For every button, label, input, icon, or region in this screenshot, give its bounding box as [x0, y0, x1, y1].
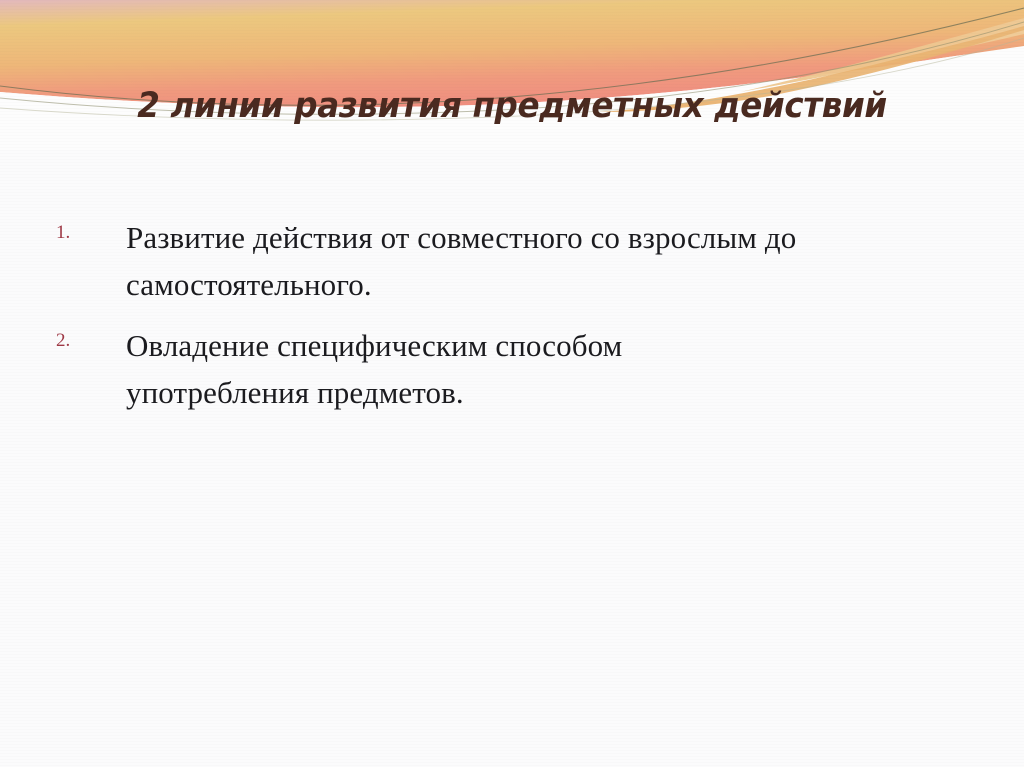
slide-title: 2 линии развития предметных действий — [0, 84, 1024, 128]
presentation-slide: 2 линии развития предметных действий 1. … — [0, 0, 1024, 767]
list-item-text: Развитие действия от совместного со взро… — [126, 214, 978, 308]
numbered-list: 1. Развитие действия от совместного со в… — [48, 214, 978, 416]
list-item: 1. Развитие действия от совместного со в… — [48, 214, 978, 308]
list-item-text: Овладение специфическим способом употреб… — [126, 322, 746, 416]
list-item: 2. Овладение специфическим способом упот… — [48, 322, 978, 416]
list-item-marker: 2. — [56, 331, 96, 350]
list-item-marker: 1. — [56, 223, 96, 242]
slide-body: 1. Развитие действия от совместного со в… — [48, 214, 978, 430]
page-title: 2 линии развития предметных действий — [137, 84, 887, 128]
